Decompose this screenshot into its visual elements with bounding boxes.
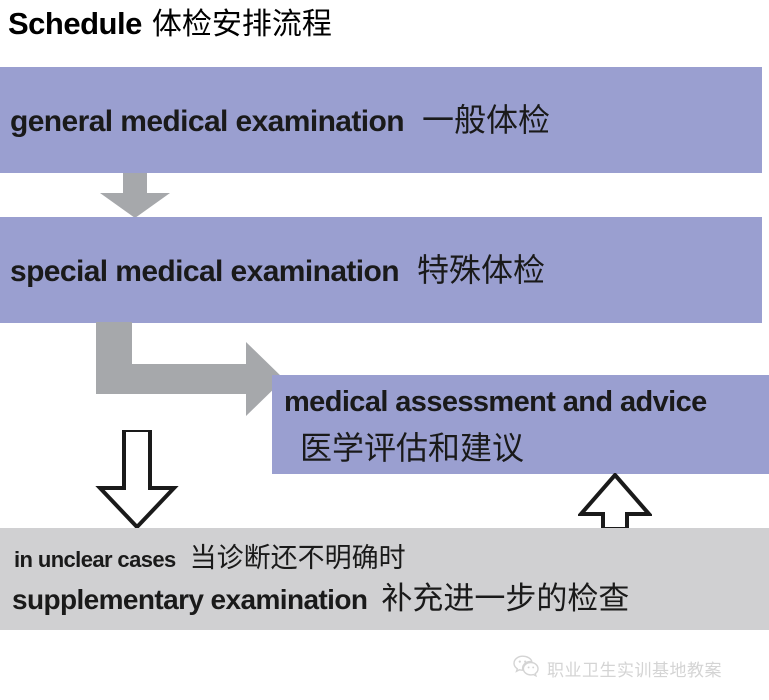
- flow-step-label-en: medical assessment and advice: [284, 386, 707, 418]
- flow-step-medical-assessment-and-advice: medical assessment and advice 医学评估和建议: [272, 375, 769, 474]
- wechat-logo-icon: [513, 655, 539, 682]
- flow-step-label-cn: 一般体检: [422, 101, 550, 139]
- flow-step-general-medical-examination: general medical examination一般体检: [0, 67, 762, 173]
- arrow-up-outline-icon: [578, 473, 652, 531]
- flow-step-label: special medical examination特殊体检: [10, 245, 545, 291]
- flow-step-label-en: general medical examination: [10, 105, 404, 138]
- flow-step-label-cn: 医学评估和建议: [300, 429, 524, 467]
- flow-step-label-en-2: supplementary examination: [12, 584, 367, 615]
- flow-step-special-medical-examination: special medical examination特殊体检: [0, 217, 762, 323]
- page-title: Schedule体检安排流程: [8, 2, 332, 52]
- flow-step-label-en: special medical examination: [10, 255, 399, 288]
- slide-canvas: Schedule体检安排流程 general medical examinati…: [0, 0, 769, 700]
- arrow-down-outline-icon: [92, 430, 182, 530]
- page-title-cn: 体检安排流程: [152, 7, 332, 42]
- flow-step-label-line-1: in unclear cases当诊断还不明确时: [14, 536, 406, 575]
- flow-step-label: general medical examination一般体检: [10, 95, 550, 141]
- footer-watermark-text: 职业卫生实训基地教案: [547, 656, 722, 681]
- arrow-elbow-right-icon: [96, 322, 286, 437]
- flow-step-label-cn-2: 补充进一步的检查: [381, 581, 629, 617]
- page-title-en: Schedule: [8, 6, 142, 41]
- flow-step-label-en-line: medical assessment and advice: [284, 386, 707, 419]
- footer-watermark: 职业卫生实训基地教案: [513, 655, 722, 682]
- flow-step-label-en-1: in unclear cases: [14, 547, 176, 572]
- flow-step-label-cn-1: 当诊断还不明确时: [190, 543, 406, 574]
- flow-step-label-cn-line: 医学评估和建议: [300, 423, 524, 469]
- flow-step-label-line-2: supplementary examination补充进一步的检查: [12, 573, 629, 618]
- arrow-down-solid-icon: [95, 173, 175, 218]
- flow-step-supplementary-examination: in unclear cases当诊断还不明确时 supplementary e…: [0, 528, 769, 630]
- flow-step-label-cn: 特殊体检: [417, 251, 545, 289]
